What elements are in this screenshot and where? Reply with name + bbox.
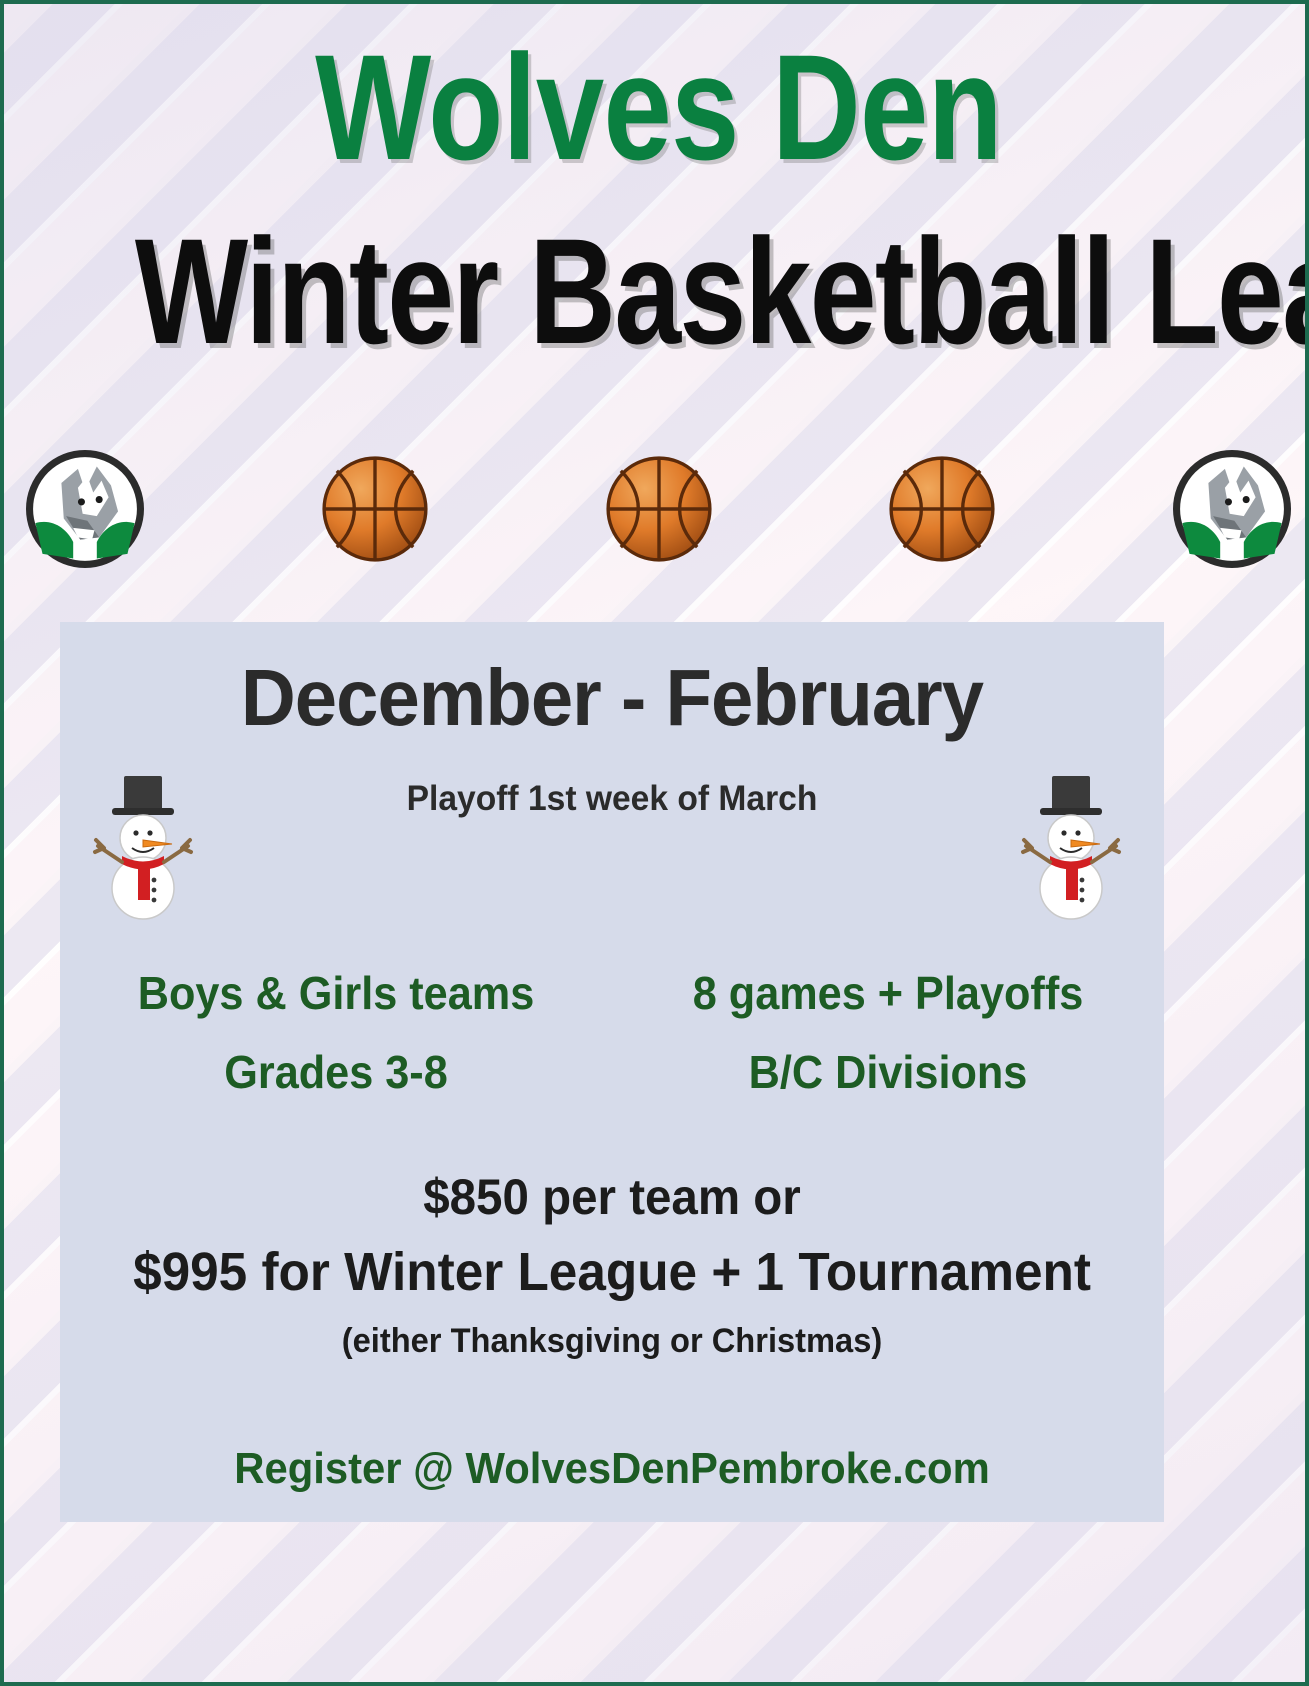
fact-teams: Boys & Girls teams <box>77 954 596 1033</box>
price-league-plus-tournament: $995 for Winter League + 1 Tournament <box>88 1233 1137 1313</box>
basketball-icon <box>606 456 712 562</box>
season-dates-heading: December - February <box>88 652 1137 744</box>
tournament-note: (either Thanksgiving or Christmas) <box>82 1313 1142 1371</box>
facts-row-2: Grades 3-8 B/C Divisions <box>60 1033 1164 1112</box>
snowman-icon <box>88 772 198 922</box>
playoff-subheading: Playoff 1st week of March <box>82 779 1142 819</box>
poster: Wolves Den Winter Basketball League <box>0 0 1309 1686</box>
facts-row-1: Boys & Girls teams 8 games + Playoffs <box>60 954 1164 1033</box>
wolf-head-logo-icon <box>26 450 144 568</box>
wolf-head-logo-icon <box>1173 450 1291 568</box>
snowman-icon <box>1016 772 1126 922</box>
fact-divisions: B/C Divisions <box>629 1033 1148 1112</box>
basketball-icon <box>322 456 428 562</box>
fact-grades: Grades 3-8 <box>77 1033 596 1112</box>
page-title: Wolves Den <box>122 32 1195 182</box>
register-link[interactable]: Register @ WolvesDenPembroke.com <box>88 1444 1137 1494</box>
basketball-icon <box>889 456 995 562</box>
league-facts: Boys & Girls teams 8 games + Playoffs Gr… <box>60 954 1164 1112</box>
page-subtitle: Winter Basketball League <box>135 216 1182 366</box>
price-per-team: $850 per team or <box>88 1162 1137 1233</box>
icon-row <box>4 444 1309 574</box>
pricing-block: $850 per team or $995 for Winter League … <box>60 1162 1164 1371</box>
fact-games: 8 games + Playoffs <box>629 954 1148 1033</box>
